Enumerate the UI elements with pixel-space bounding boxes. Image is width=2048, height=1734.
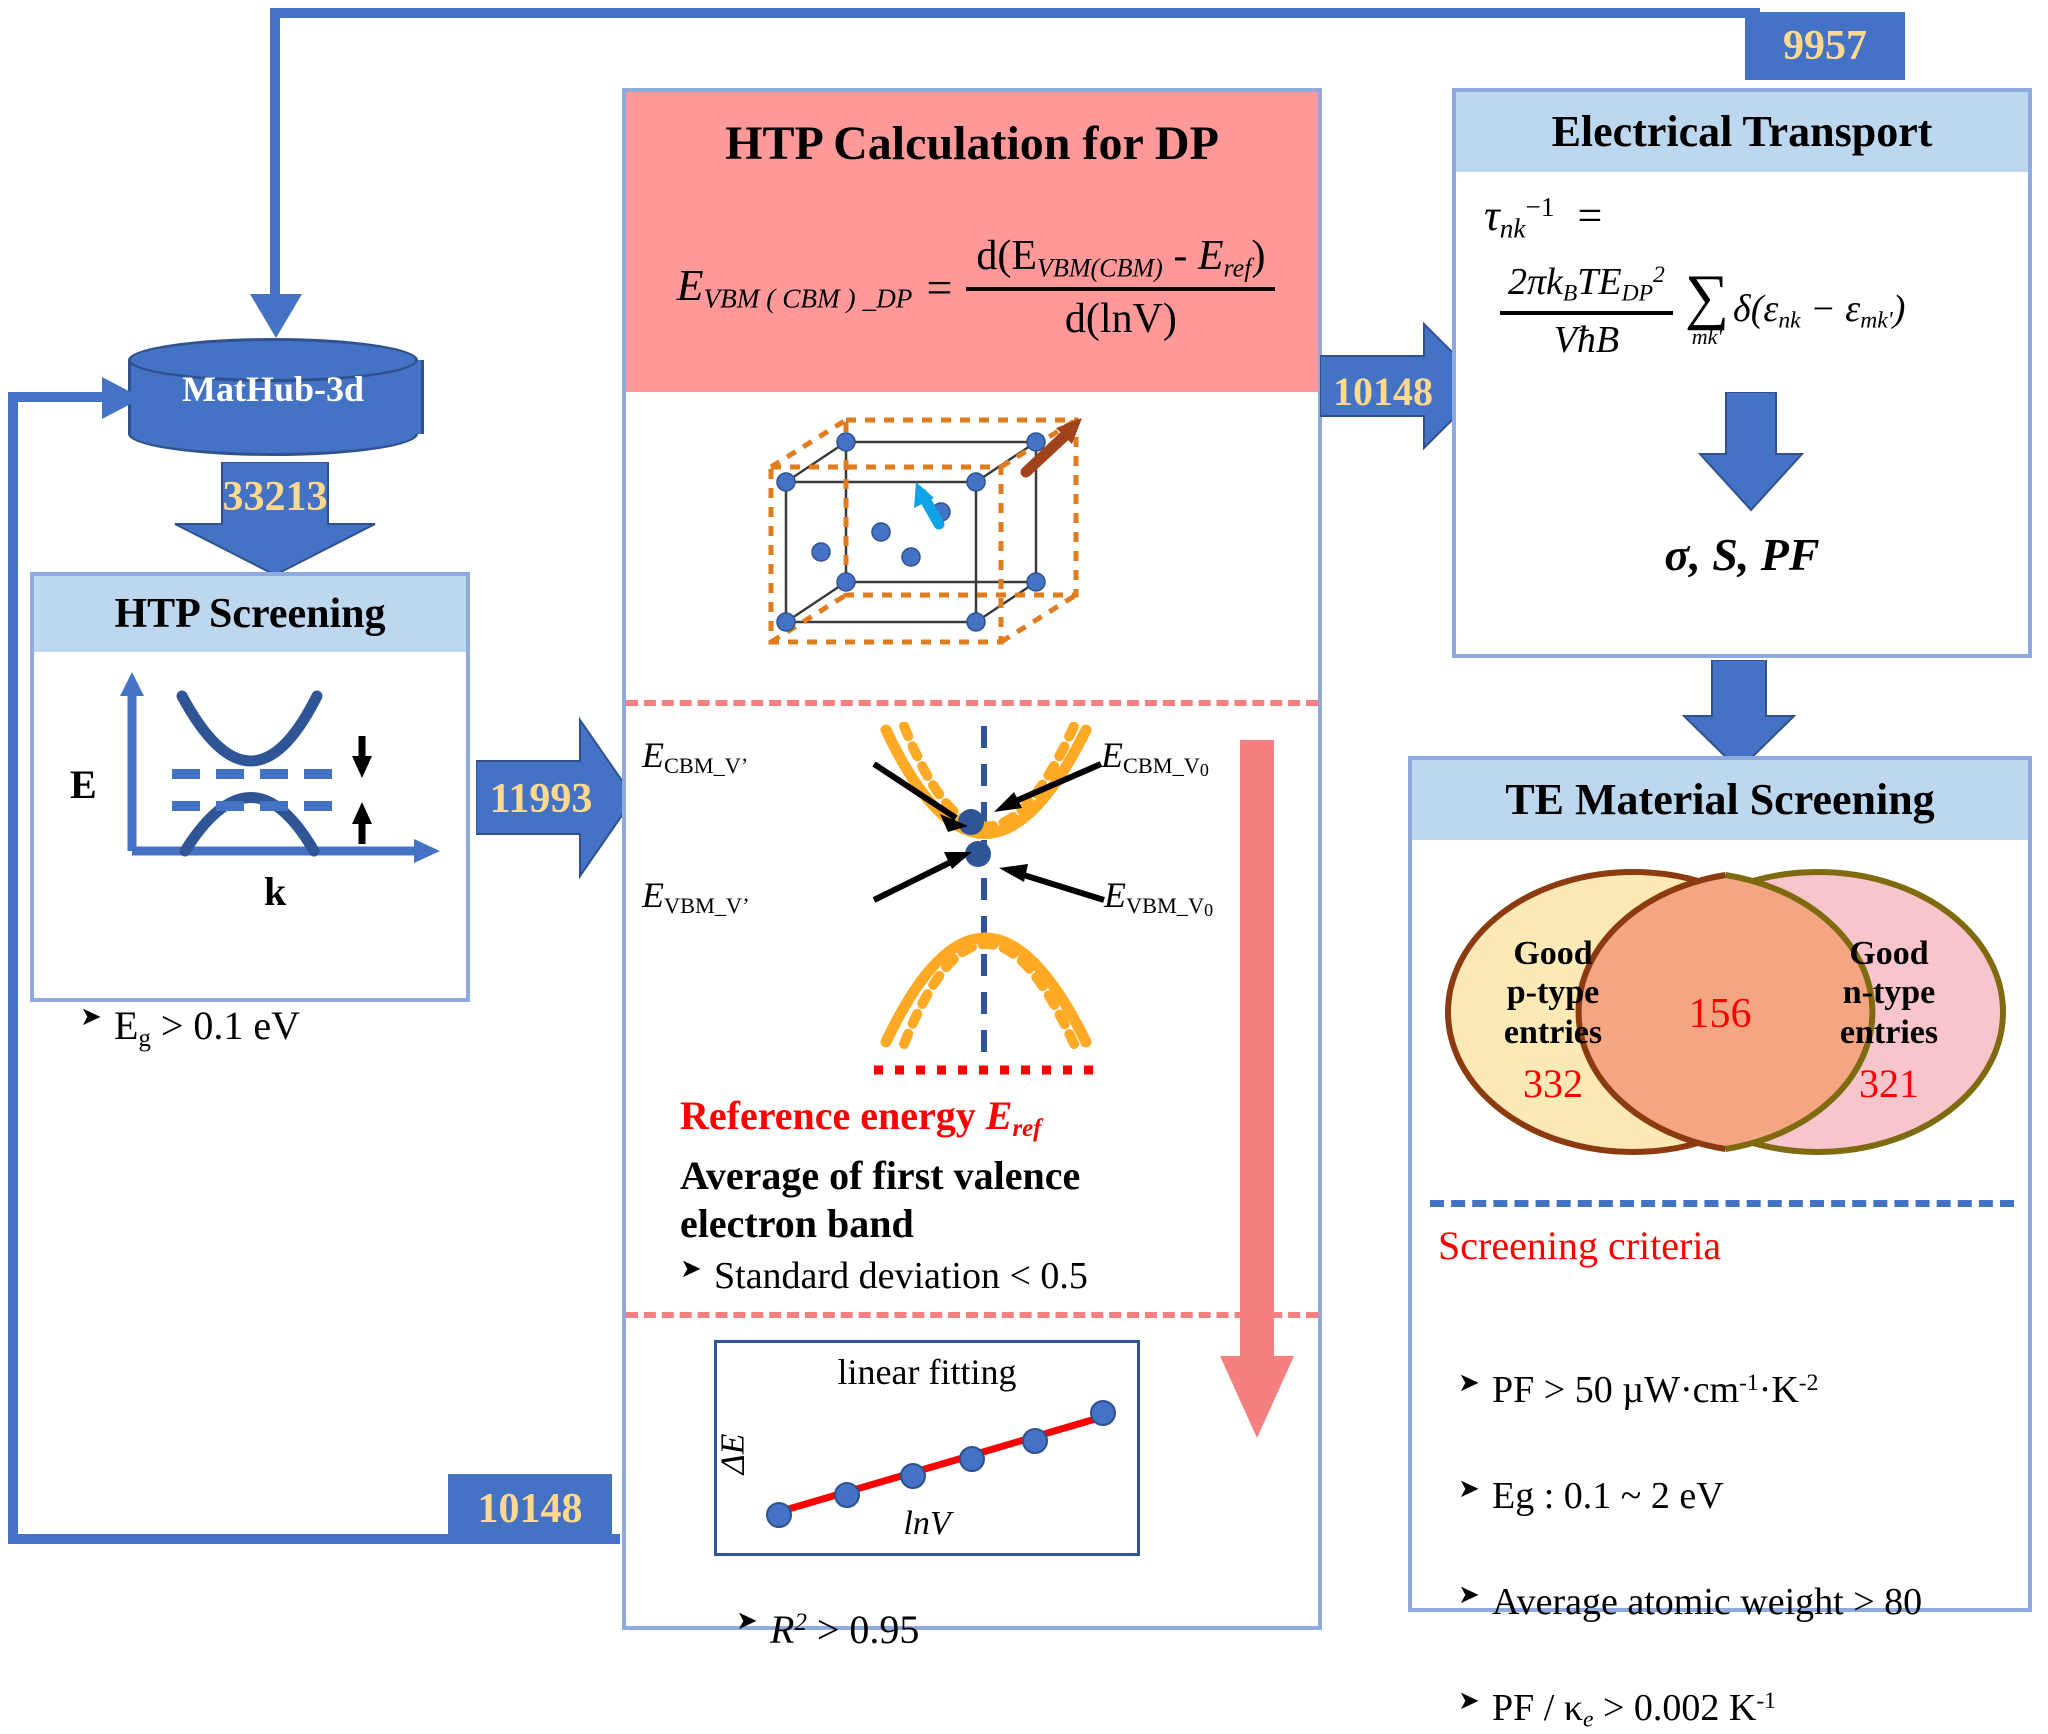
delta-mid: − ε <box>1801 288 1861 330</box>
venn-left-line-1: p-type <box>1468 973 1638 1012</box>
bottom-feedback-line-into-db <box>8 392 108 402</box>
label-cbm-vprime: ECBM_V’ <box>642 734 748 779</box>
top-feedback-line-left <box>270 8 280 308</box>
dp-num-mid: - E <box>1163 233 1224 279</box>
criteria-title: Screening criteria <box>1438 1222 1721 1269</box>
tau-symbol: τ <box>1484 191 1500 240</box>
criteria-item-2: Average atomic weight > 80 <box>1458 1580 2048 1624</box>
htp-screening-title: HTP Screening <box>34 576 466 652</box>
delta-sub2: mk' <box>1860 308 1893 334</box>
criteria-item-3: PF / κe > 0.002 K-1 <box>1458 1686 2048 1734</box>
criteria-3-sup1: -1 <box>1756 1688 1776 1714</box>
dp-num-sub: VBM(CBM) <box>1037 253 1163 282</box>
criteria-0-sup2: -2 <box>1799 1370 1819 1396</box>
vbm-vprime-main: E <box>642 875 664 915</box>
r2-criterion: R2 > 0.95 <box>736 1606 1428 1653</box>
te-screening-title: TE Material Screening <box>1412 760 2028 840</box>
average-text-line2: electron band <box>680 1200 914 1247</box>
venn-intersection-value: 156 <box>1640 990 1800 1038</box>
dp-formula-lhs: EVBM ( CBM ) _DP <box>677 260 913 315</box>
criterion-symbol: E <box>114 1003 138 1048</box>
transport-formula-lhs: τnk−1 = <box>1484 190 1602 245</box>
criteria-0-text: PF > 50 µW·cm <box>1492 1369 1739 1411</box>
badge-db-to-screening-label: 33213 <box>223 474 328 520</box>
cbm-v0-main: E <box>1101 735 1123 775</box>
criterion-subscript: g <box>138 1025 150 1052</box>
transport-delta: δ(εnk − εmk') <box>1733 287 1905 335</box>
htp-dp-box[interactable]: HTP Calculation for DP EVBM ( CBM ) _DP … <box>622 88 1322 1630</box>
badge-screening-to-dp: 11993 <box>476 775 606 823</box>
htp-screening-criterion: Eg > 0.1 eV <box>80 1002 512 1053</box>
badge-bottom-feedback: 10148 <box>448 1474 612 1544</box>
tr-num-mid: TE <box>1577 261 1621 303</box>
dp-formula: EVBM ( CBM ) _DP = d(EVBM(CBM) - Eref) d… <box>636 232 1316 343</box>
cbm-vprime-sub: CBM_V’ <box>664 753 748 778</box>
dp-separator-2 <box>626 1312 1318 1318</box>
tr-num-sub: B <box>1563 281 1577 307</box>
venn-left-label: Good p-type entries <box>1468 934 1638 1052</box>
linear-fitting-plot: linear fitting ΔE lnV <box>714 1340 1140 1556</box>
reference-energy-sub: ref <box>1012 1115 1041 1142</box>
criteria-3-sub: e <box>1583 1707 1593 1733</box>
venn-left-line-0: Good <box>1468 934 1638 973</box>
linear-fitting-ylabel: ΔE <box>714 1434 752 1475</box>
delta-a: δ(ε <box>1733 288 1778 330</box>
criteria-item-0: PF > 50 µW·cm-1·K-2 <box>1458 1368 2048 1412</box>
dp-lhs-sub: VBM ( CBM ) _DP <box>703 284 912 314</box>
criteria-0-mid: ·K <box>1759 1369 1799 1411</box>
dp-lhs-main: E <box>677 261 704 310</box>
venn-right-label: Good n-type entries <box>1804 934 1974 1052</box>
electrical-transport-title: Electrical Transport <box>1456 92 2028 172</box>
htp-dp-title: HTP Calculation for DP <box>626 116 1318 171</box>
dp-formula-equals: = <box>926 261 952 314</box>
dp-num-sub2: ref <box>1223 253 1251 282</box>
badge-db-to-screening: 33213 <box>170 473 380 521</box>
venn-right-line-2: entries <box>1804 1013 1974 1052</box>
r2-sup: 2 <box>794 1609 806 1636</box>
r2-rest: > 0.95 <box>807 1607 920 1652</box>
dp-formula-numerator: d(EVBM(CBM) - Eref) <box>966 232 1275 287</box>
vbm-v0-main: E <box>1104 875 1126 915</box>
cbm-vprime-main: E <box>642 735 664 775</box>
badge-dp-to-transport-label: 10148 <box>1333 369 1433 414</box>
vbm-v0-sub2: 0 <box>1204 900 1213 920</box>
delta-sub: nk <box>1778 308 1800 334</box>
label-cbm-v0: ECBM_V0 <box>1101 734 1209 781</box>
linear-fitting-xlabel: lnV <box>717 1505 1137 1543</box>
criteria-item-1: Eg : 0.1 ~ 2 eV <box>1458 1474 2048 1518</box>
tr-num-sub2: DP <box>1622 281 1653 307</box>
criteria-3-text: PF / κ <box>1492 1687 1583 1729</box>
venn-right-line-0: Good <box>1804 934 1974 973</box>
database-label: MatHub-3d <box>128 368 418 410</box>
tr-num-sup: 2 <box>1653 262 1665 288</box>
criterion-rest: > 0.1 eV <box>161 1003 300 1048</box>
tau-sup: −1 <box>1526 192 1555 222</box>
crystal-cell-sketch <box>726 412 1246 692</box>
dp-formula-fraction: d(EVBM(CBM) - Eref) d(lnV) <box>966 232 1275 343</box>
te-separator <box>1430 1200 2014 1207</box>
badge-screening-to-dp-label: 11993 <box>490 776 593 822</box>
reference-energy-symbol: E <box>986 1093 1013 1138</box>
tau-sub: nk <box>1500 214 1526 244</box>
dp-separator-1 <box>626 700 1318 706</box>
transport-numerator: 2πkBTEDP2 <box>1500 260 1673 311</box>
cbm-v0-sub: CBM_V <box>1123 753 1200 778</box>
badge-bottom-feedback-label: 10148 <box>478 1485 583 1533</box>
transport-formula-rhs: 2πkBTEDP2 VħB ∑ mk' δ(εnk − εmk') <box>1500 260 2010 362</box>
transport-inner-down-arrow <box>1696 392 1806 512</box>
reference-energy-text: Reference energy Eref <box>680 1092 1041 1143</box>
transport-denominator: VħB <box>1500 315 1673 362</box>
tau-equals: = <box>1578 191 1603 240</box>
badge-dp-to-transport: 10148 <box>1318 368 1448 415</box>
vbm-v0-sub: VBM_V <box>1126 893 1204 918</box>
tr-num-a: 2πk <box>1508 261 1563 303</box>
cbm-v0-sub2: 0 <box>1200 760 1209 780</box>
transport-sum: ∑ mk' <box>1685 271 1729 350</box>
badge-top-feedback-label: 9957 <box>1783 22 1867 70</box>
reference-energy-prefix: Reference energy <box>680 1093 986 1138</box>
vbm-vprime-sub: VBM_V’ <box>664 893 750 918</box>
sum-glyph: ∑ <box>1685 271 1729 324</box>
dp-flow-down-arrow <box>1218 740 1298 1440</box>
te-screening-box[interactable]: TE Material Screening Good p-type entrie… <box>1408 756 2032 1612</box>
average-text-line1: Average of first valence <box>680 1152 1080 1199</box>
delta-end: ) <box>1893 288 1906 330</box>
venn-left-line-2: entries <box>1468 1013 1638 1052</box>
transport-fraction: 2πkBTEDP2 VħB <box>1500 260 1673 362</box>
badge-top-feedback: 9957 <box>1745 12 1905 80</box>
electrical-transport-box[interactable]: Electrical Transport τnk−1 = 2πkBTEDP2 V… <box>1452 88 2032 658</box>
r2-main: R <box>770 1607 794 1652</box>
dp-num-end: ) <box>1251 233 1265 279</box>
dp-num-a: d(E <box>976 233 1037 279</box>
band-structure-sketch <box>52 666 456 866</box>
band-y-axis-label: E <box>70 761 97 808</box>
dp-formula-denominator: d(lnV) <box>966 291 1275 343</box>
bottom-feedback-line-left <box>8 392 18 1544</box>
venn-left-value: 332 <box>1468 1060 1638 1107</box>
htp-screening-box[interactable]: HTP Screening E k Eg > 0.1 eV <box>30 572 470 1002</box>
label-vbm-v0: EVBM_V0 <box>1104 874 1213 921</box>
top-feedback-arrowhead <box>248 290 304 340</box>
venn-right-line-1: n-type <box>1804 973 1974 1012</box>
transport-outputs: σ, S, PF <box>1456 528 2028 581</box>
venn-right-value: 321 <box>1804 1060 1974 1107</box>
band-x-axis-label: k <box>264 868 286 915</box>
label-vbm-vprime: EVBM_V’ <box>642 874 750 919</box>
criteria-3-rest: > 0.002 K <box>1593 1687 1756 1729</box>
database-cylinder[interactable]: MatHub-3d <box>128 338 418 458</box>
criteria-0-sup1: -1 <box>1739 1370 1759 1396</box>
top-feedback-line-horizontal <box>270 8 1760 18</box>
